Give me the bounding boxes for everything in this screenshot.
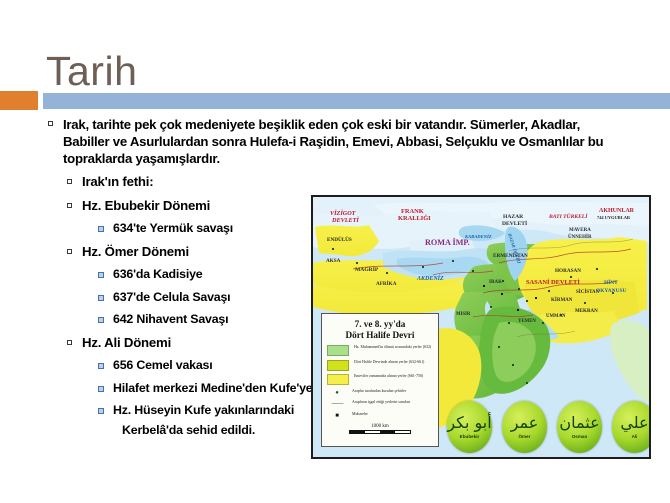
map-label: AKHUNLAR bbox=[599, 208, 634, 214]
legend-entry-label: Hz. Muhammed'in ölümü sırasındaki yerler… bbox=[354, 345, 431, 350]
legend-dot-icon: ● bbox=[327, 389, 347, 397]
square-bullet-icon bbox=[67, 179, 72, 184]
map-legend-entry: — — Arapların işgal ettiği yerlerin sını… bbox=[327, 400, 433, 408]
caliph-medallion-ebubekir: أبو بكر Ebubekir bbox=[447, 401, 492, 453]
map-label: MAVERA bbox=[569, 228, 591, 233]
legend-entry-label: Arapların işgal ettiği yerlerin sınırlar… bbox=[352, 400, 410, 405]
list-item-label: Hz. Ebubekir Dönemi bbox=[82, 198, 210, 213]
legend-swatch-icon bbox=[327, 345, 349, 356]
caliph-latin-name: Ömer bbox=[518, 435, 530, 440]
map-label: UMMAN bbox=[546, 315, 565, 320]
square-bullet-icon bbox=[98, 226, 104, 232]
map-scale-bar-icon bbox=[349, 430, 411, 434]
caliph-latin-name: Osman bbox=[572, 435, 588, 440]
list-item: Irak'ın fethi: bbox=[44, 174, 640, 191]
map-label: AKSA bbox=[326, 259, 340, 264]
map-credit-strip bbox=[641, 368, 648, 454]
square-bullet-icon bbox=[98, 408, 104, 414]
list-item-label: 634'te Yermük savaşı bbox=[113, 221, 233, 235]
map-legend-entry: ● Araplar tarafından kurulan şehirler bbox=[327, 389, 433, 397]
square-bullet-icon bbox=[67, 249, 72, 254]
square-bullet-icon bbox=[48, 121, 53, 126]
caliph-medallion-omer: عمر Ömer bbox=[502, 401, 547, 453]
legend-square-icon: ■ bbox=[327, 412, 347, 420]
legend-entry-label: Muharebe bbox=[352, 412, 368, 417]
map-label: AFRİKA bbox=[376, 282, 396, 287]
divider-bar-decoration bbox=[43, 93, 670, 109]
square-bullet-icon bbox=[67, 340, 72, 345]
intro-paragraph-text: Irak, tarihte pek çok medeniyete beşikli… bbox=[63, 117, 603, 166]
map-label: ERMENİSTAN bbox=[493, 254, 528, 259]
map-label: OKYANUSU bbox=[596, 289, 626, 294]
list-item-label: 636'da Kadisiye bbox=[113, 267, 203, 281]
map-label: YEMEN bbox=[518, 320, 536, 325]
list-item-label: Hilafet merkezi Medine'den Kufe'ye bbox=[113, 381, 312, 395]
map-label: HAZAR bbox=[503, 215, 523, 221]
map-scale-label: 1000 km bbox=[327, 424, 433, 429]
list-item-label: 656 Cemel vakası bbox=[113, 358, 212, 372]
square-bullet-icon bbox=[98, 272, 104, 278]
list-item-label: Irak'ın fethi: bbox=[82, 174, 153, 189]
map-label: ENDÜLÜS bbox=[327, 238, 352, 243]
map-label: 744 UYGURLAR bbox=[597, 216, 630, 220]
list-item-label: Hz. Ömer Dönemi bbox=[82, 244, 189, 259]
caliph-latin-name: Ebubekir bbox=[460, 435, 480, 440]
square-bullet-icon bbox=[98, 295, 104, 301]
caliph-arabic-name: عثمان bbox=[559, 415, 599, 431]
square-bullet-icon bbox=[98, 363, 104, 369]
map-label: AKDENİZ bbox=[417, 276, 444, 282]
map-label: HORASAN bbox=[555, 269, 581, 274]
intro-paragraph-row: Irak, tarihte pek çok medeniyete beşikli… bbox=[44, 116, 623, 167]
historical-map-image: VİZİGOT DEVLETİ FRANK KRALLIĞI HAZAR DEV… bbox=[311, 195, 651, 459]
list-item-label: 642 Nihavent Savaşı bbox=[113, 312, 228, 326]
map-legend-title-line2: Dört Halife Devri bbox=[346, 330, 415, 340]
caliph-medallion-osman: عثمان Osman bbox=[557, 401, 602, 453]
map-label: ÜNNEHİR bbox=[568, 235, 592, 240]
legend-swatch-icon bbox=[327, 360, 349, 371]
map-legend-title-line1: 7. ve 8. yy'da bbox=[355, 319, 406, 329]
accent-square-decoration bbox=[0, 91, 38, 110]
legend-dashed-line-icon: — — bbox=[327, 400, 347, 408]
legend-entry-label: Araplar tarafından kurulan şehirler bbox=[352, 389, 406, 394]
list-item-label: Hz. Ali Dönemi bbox=[82, 335, 171, 350]
map-legend-entry: Hz. Muhammed'in ölümü sırasındaki yerler… bbox=[327, 345, 433, 356]
page-title: Tarih bbox=[46, 49, 137, 94]
square-bullet-icon bbox=[98, 317, 104, 323]
square-bullet-icon bbox=[98, 386, 104, 392]
map-legend-title: 7. ve 8. yy'da Dört Halife Devri bbox=[327, 319, 433, 340]
map-label: DEVLETİ bbox=[332, 218, 359, 224]
legend-entry-label: Emeviler zamanında alınan yerler (661-75… bbox=[354, 374, 423, 379]
map-legend-entry: Dört Halife Devrinde alınan yerler (632-… bbox=[327, 360, 433, 371]
legend-swatch-icon bbox=[327, 374, 349, 385]
caliph-arabic-name: عمر bbox=[511, 415, 539, 431]
map-label: ROMA İMP. bbox=[425, 239, 470, 247]
map-label: HİNT bbox=[604, 281, 618, 286]
map-label: SASANİ DEVLETİ bbox=[526, 280, 580, 286]
map-legend-entry: ■ Muharebe bbox=[327, 412, 433, 420]
map-label: IRAK bbox=[489, 280, 502, 285]
presentation-slide: Tarih Irak, tarihte pek çok medeniyete b… bbox=[0, 0, 670, 503]
map-label: MEKRAN bbox=[575, 309, 598, 314]
caliph-latin-name: Ali bbox=[632, 435, 638, 440]
map-label: KRALLIĞI bbox=[398, 216, 431, 222]
map-legend-entry: Emeviler zamanında alınan yerler (661-75… bbox=[327, 374, 433, 385]
map-label: DEVLETİ bbox=[502, 222, 527, 228]
map-label: BATI TÜRKELİ bbox=[549, 215, 587, 221]
map-scale: 1000 km bbox=[327, 424, 433, 434]
map-legend: 7. ve 8. yy'da Dört Halife Devri Hz. Muh… bbox=[321, 313, 439, 447]
caliph-arabic-name: أبو بكر bbox=[447, 415, 491, 431]
list-item-label: Hz. Hüseyin Kufe yakınlarındaki bbox=[113, 403, 294, 417]
list-item-label: 637'de Celula Savaşı bbox=[113, 290, 230, 304]
square-bullet-icon bbox=[67, 203, 72, 208]
legend-entry-label: Dört Halife Devrinde alınan yerler (632-… bbox=[354, 360, 424, 365]
map-label: KARADENİZ bbox=[465, 235, 492, 240]
map-label: MAGRİP bbox=[355, 268, 378, 274]
map-label: KİRMAN bbox=[551, 298, 572, 303]
map-label: MISIR bbox=[456, 313, 470, 318]
